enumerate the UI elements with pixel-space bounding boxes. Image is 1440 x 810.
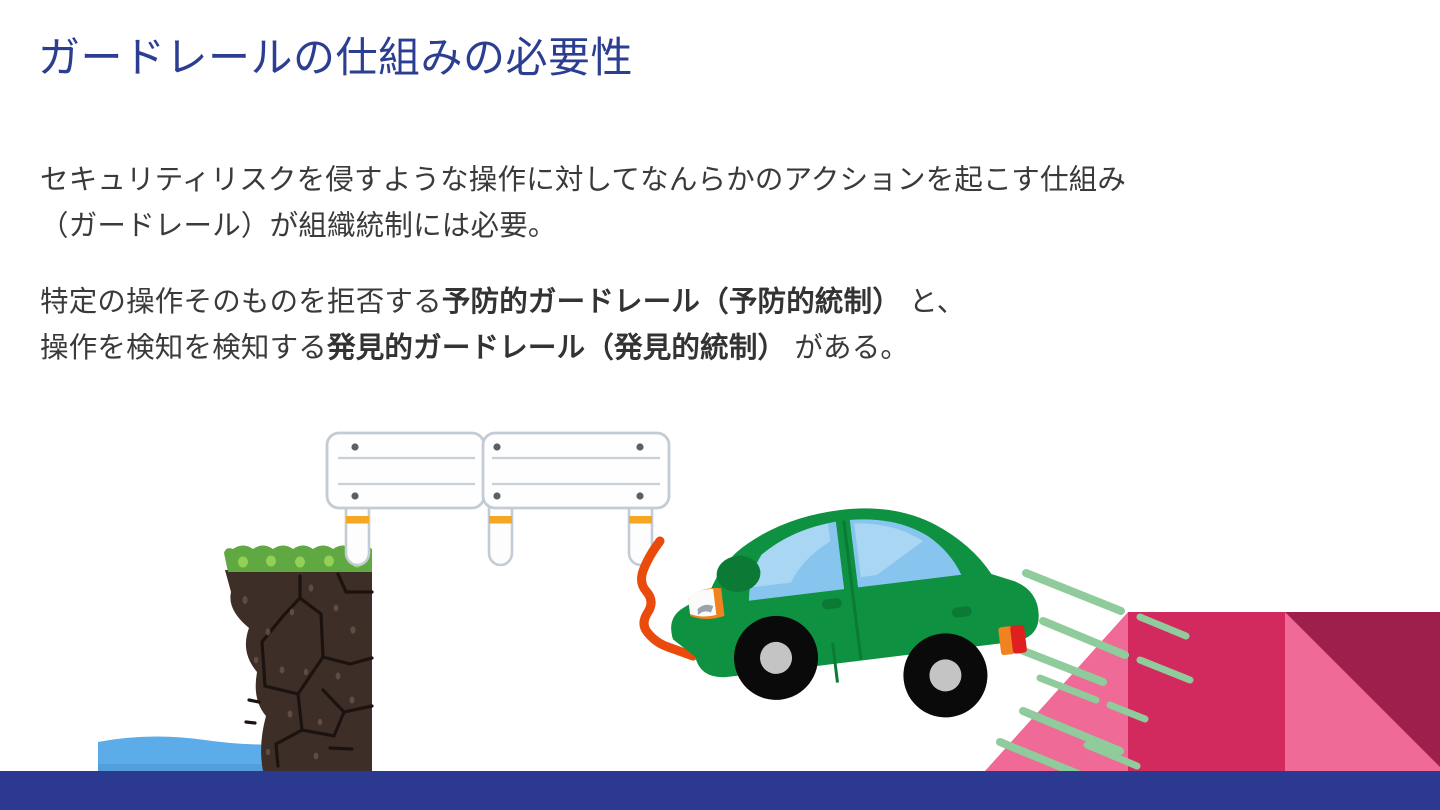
guardrail	[327, 433, 669, 565]
guardrail-posts	[346, 505, 652, 565]
car	[659, 488, 1050, 750]
guardrail-post-1	[346, 505, 369, 565]
deco-triangle-light-pink-2	[1128, 612, 1285, 771]
cliff	[224, 546, 372, 772]
slide-canvas: ガードレールの仕組みの必要性 セキュリティリスクを侵すような操作に対してなんらか…	[0, 0, 1440, 810]
deco-shapes	[985, 612, 1440, 771]
post-band-3	[629, 516, 652, 524]
guardrail-beam-left	[327, 433, 484, 508]
illustration	[0, 0, 1440, 810]
speed-line-1	[1026, 573, 1121, 611]
guardrail-post-2	[489, 505, 512, 565]
car-headlight-lens	[687, 589, 716, 619]
footer-bar	[0, 771, 1440, 810]
post-band-2	[489, 516, 512, 524]
post-band-1	[346, 516, 369, 524]
